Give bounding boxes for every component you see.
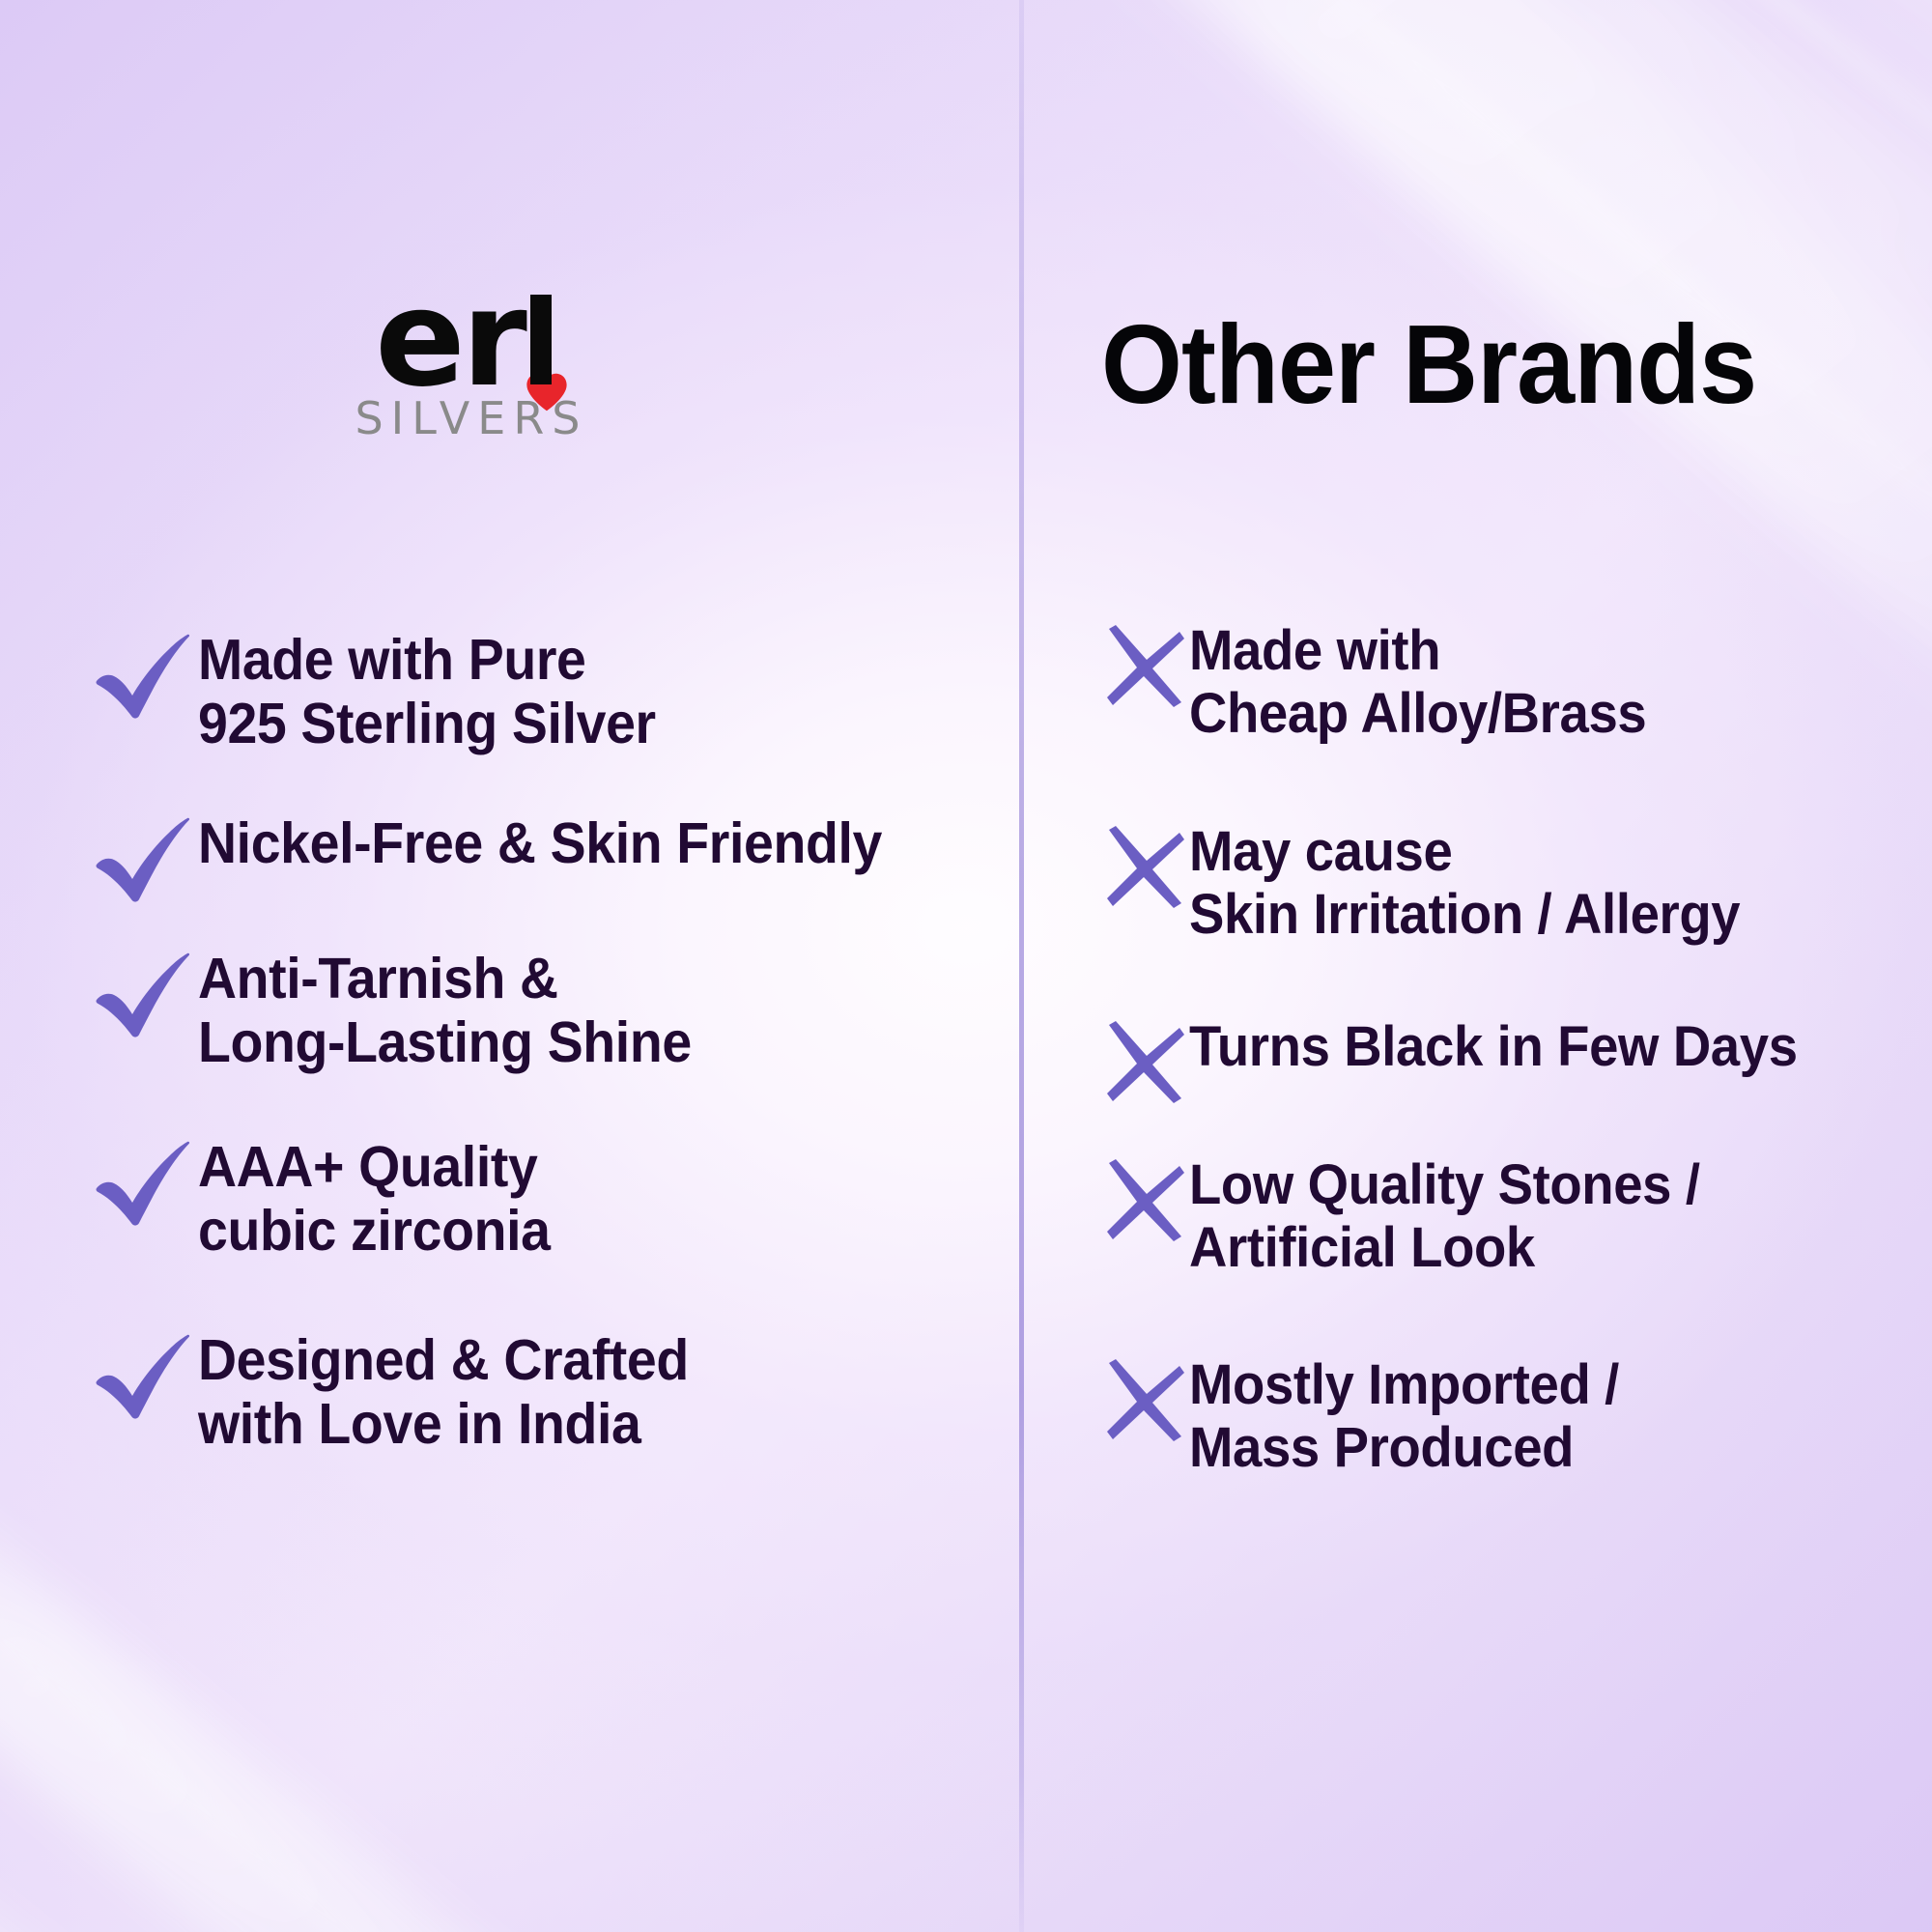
cross-icon — [1096, 1354, 1189, 1451]
list-item-label: Designed & Crafted with Love in India — [198, 1328, 689, 1456]
list-item-label: Made with Pure 925 Sterling Silver — [198, 628, 656, 755]
check-icon — [92, 1328, 198, 1425]
comparison-graphic: er SILVERS Made with Pure 925 Sterling S… — [0, 0, 1932, 1932]
cross-icon — [1096, 1154, 1189, 1251]
list-item: Low Quality Stones / Artificial Look — [1096, 1154, 1732, 1280]
list-item: Made with Cheap Alloy/Brass — [1096, 620, 1676, 746]
check-icon — [92, 811, 198, 908]
list-item-label: Anti-Tarnish & Long-Lasting Shine — [198, 947, 692, 1074]
list-item: Made with Pure 925 Sterling Silver — [92, 628, 685, 755]
heart-icon — [526, 371, 568, 413]
cross-icon — [1096, 1016, 1189, 1113]
logo-wordmark-er: er — [375, 261, 524, 416]
logo-wordmark: er — [375, 272, 558, 408]
list-item: Anti-Tarnish & Long-Lasting Shine — [92, 947, 723, 1074]
page-title: Other Brands — [1101, 305, 1756, 424]
cross-icon — [1096, 620, 1189, 717]
list-item-label: AAA+ Quality cubic zirconia — [198, 1135, 551, 1263]
list-item-label: Turns Black in Few Days — [1189, 1016, 1798, 1079]
list-item: May cause Skin Irritation / Allergy — [1096, 821, 1776, 947]
list-item-label: Made with Cheap Alloy/Brass — [1189, 620, 1646, 746]
list-item-label: May cause Skin Irritation / Allergy — [1189, 821, 1740, 947]
column-divider — [1019, 0, 1024, 1932]
list-item: Nickel-Free & Skin Friendly — [92, 811, 925, 908]
check-icon — [92, 628, 198, 724]
list-item: Designed & Crafted with Love in India — [92, 1328, 720, 1456]
list-item: AAA+ Quality cubic zirconia — [92, 1135, 573, 1263]
check-icon — [92, 947, 198, 1043]
list-item: Turns Black in Few Days — [1096, 1016, 1836, 1113]
list-item-label: Nickel-Free & Skin Friendly — [198, 811, 882, 875]
cross-icon — [1096, 821, 1189, 918]
list-item: Mostly Imported / Mass Produced — [1096, 1354, 1646, 1480]
check-icon — [92, 1135, 198, 1232]
eri-silvers-logo: er SILVERS — [307, 272, 626, 444]
list-item-label: Low Quality Stones / Artificial Look — [1189, 1154, 1700, 1280]
list-item-label: Mostly Imported / Mass Produced — [1189, 1354, 1619, 1480]
